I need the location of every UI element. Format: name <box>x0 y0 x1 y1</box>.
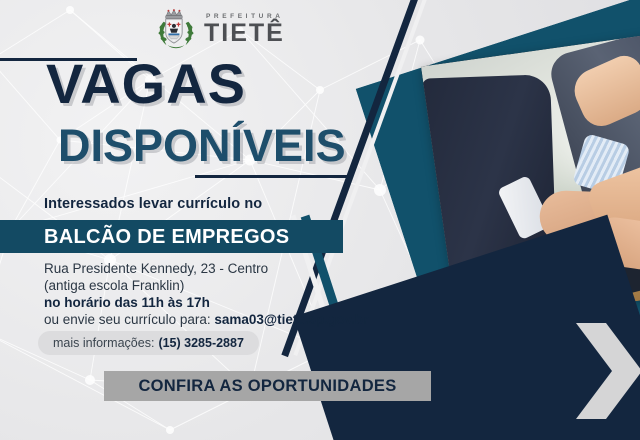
more-info-label: mais informações: <box>53 336 154 350</box>
address-reference: (antiga escola Franklin) <box>44 277 368 294</box>
page-title-primary: VAGAS <box>46 56 246 112</box>
prefecture-logo: PREFEITURA TIETÊ <box>155 8 285 52</box>
page-title-secondary: DISPONÍVEIS <box>58 123 346 168</box>
contact-email[interactable]: sama03@tiete.sp.gov.br <box>214 312 368 327</box>
logo-city-name: TIETÊ <box>204 21 285 46</box>
vacancy-poster: PREFEITURA TIETÊ VAGAS DISPONÍVEIS Inter… <box>0 0 640 440</box>
cta-button[interactable]: CONFIRA AS OPORTUNIDADES <box>104 371 431 401</box>
contact-phone[interactable]: (15) 3285-2887 <box>158 336 243 350</box>
email-prefix: ou envie seu currículo para: <box>44 312 211 327</box>
email-line: ou envie seu currículo para: sama03@tiet… <box>44 311 368 328</box>
address-street: Rua Presidente Kennedy, 23 - Centro <box>44 260 368 277</box>
instruction-subheading: Interessados levar currículo no <box>44 196 262 212</box>
opening-hours: no horário das 11h às 17h <box>44 294 368 311</box>
highlight-bar: BALCÃO DE EMPREGOS <box>0 220 343 253</box>
address-block: Rua Presidente Kennedy, 23 - Centro (ant… <box>44 260 368 328</box>
highlight-bar-label: BALCÃO DE EMPREGOS <box>44 226 289 249</box>
mid-divider-rule <box>195 175 353 178</box>
cta-button-label: CONFIRA AS OPORTUNIDADES <box>138 377 396 396</box>
more-info-badge: mais informações: (15) 3285-2887 <box>38 331 259 355</box>
tiete-coat-of-arms-icon <box>155 8 197 52</box>
